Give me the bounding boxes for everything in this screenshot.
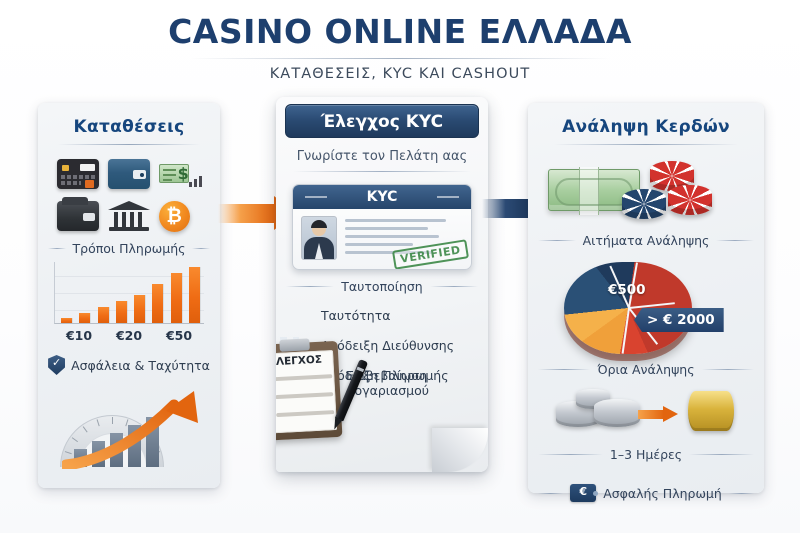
withdraw-header: Ανάληψη Κερδών	[528, 103, 764, 145]
kyc-heading: Έλεγχος KYC	[285, 104, 479, 138]
pie-callout-2000: > € 2000	[634, 308, 724, 332]
infographic-header: CASINO ONLINE ΕΛΛΑΔΑ ΚΑΤΑΘΕΣΕΙΣ, KYC ΚΑΙ…	[0, 12, 800, 82]
withdraw-heading: Ανάληψη Κερδών	[528, 117, 764, 137]
checklist-label: Ταυτότητα	[321, 308, 391, 323]
clipboard-row: ✓	[276, 389, 333, 403]
withdraw-requests-label: Αιτήματα Ανάληψης	[583, 233, 710, 248]
cash-dollar-icon: $	[159, 159, 201, 191]
kyc-subtitle: Γνωρίστε τον Πελάτη αας	[276, 149, 488, 164]
gold-coin-stack-icon	[688, 391, 734, 431]
processing-days-label-row: 1–3 Ημέρες	[538, 447, 754, 462]
bar	[134, 295, 145, 323]
withdraw-limits-label-row: Όρια Ανάληψης	[538, 362, 754, 377]
silver-coin-stack-icon	[594, 399, 640, 427]
payment-methods-label-row: Τρόποι Πληρωμής	[48, 241, 210, 256]
checklist-label: Απόδειξη Διεύθυνσης	[321, 338, 454, 353]
kyc-subtitle-divider	[293, 171, 471, 172]
withdraw-requests-label-row: Αιτήματα Ανάληψης	[538, 233, 754, 248]
identification-label-row: Ταυτοποίηση	[286, 279, 478, 294]
wallet-blue-icon	[108, 159, 150, 191]
growth-arrow-icon	[62, 389, 210, 469]
casino-chip-red-icon	[668, 185, 712, 215]
axis-label-20: €20	[116, 328, 142, 343]
panel-kyc: Έλεγχος KYC Γνωρίστε τον Πελάτη αας KYC …	[276, 97, 488, 472]
withdraw-heading-divider	[554, 144, 738, 145]
payment-methods-label: Τρόποι Πληρωμής	[73, 241, 186, 256]
title-divider	[190, 58, 610, 59]
page-title: CASINO ONLINE ΕΛΛΑΔΑ	[0, 12, 800, 52]
euro-symbol: €	[570, 485, 596, 498]
deposits-bar-chart	[54, 262, 204, 324]
withdraw-limits-pie-chart: €500 > € 2000	[538, 256, 754, 360]
bitcoin-glyph: ₿	[159, 201, 190, 232]
bar	[98, 307, 109, 323]
identification-label: Ταυτοποίηση	[341, 279, 422, 294]
speed-gauge-illustration	[48, 379, 210, 471]
shield-check-icon	[48, 355, 65, 375]
conversion-arrow-icon	[638, 407, 678, 421]
infographic-canvas: CASINO ONLINE ΕΛΛΑΔΑ ΚΑΤΑΘΕΣΕΙΣ, KYC ΚΑΙ…	[0, 0, 800, 533]
deposits-heading: Καταθέσεις	[38, 117, 220, 137]
kyc-id-card: KYC VERIFIED	[292, 184, 472, 270]
processing-days-label: 1–3 Ημέρες	[610, 447, 682, 462]
credit-card-icon	[57, 159, 99, 191]
security-row: Ασφάλεια & Ταχύτητα	[38, 355, 220, 375]
page-subtitle: ΚΑΤΑΘΕΣΕΙΣ, KYC ΚΑΙ CASHOUT	[0, 66, 800, 82]
coins-conversion-illustration	[542, 385, 750, 443]
id-shield-icon	[290, 304, 312, 326]
bar-chart-axis-labels: €10 €20 €50	[54, 328, 204, 343]
pie-label-500: €500	[608, 282, 646, 298]
bar	[171, 273, 182, 323]
security-label: Ασφάλεια & Ταχύτητα	[71, 358, 210, 373]
bar	[116, 301, 127, 323]
payment-method-icons: $ ₿	[38, 145, 220, 241]
wallet-dark-icon	[57, 201, 99, 233]
checklist-item-identity[interactable]: Ταυτότητα	[290, 304, 474, 326]
clipboard-icon: ΕΛΕΓΧΟΣ ✓ ✓ ✓	[276, 341, 342, 441]
clipboard-row: ✓	[276, 371, 333, 385]
bar	[189, 267, 200, 323]
euro-wallet-icon: €	[570, 484, 596, 502]
axis-label-10: €10	[66, 328, 92, 343]
page-curl-corner	[432, 428, 488, 472]
account-confirmation-label: Επιβεβαίωση Λογαριασμού	[346, 368, 488, 398]
casino-chip-blue-icon	[622, 189, 666, 219]
bitcoin-icon: ₿	[159, 201, 201, 233]
deposits-header: Καταθέσεις	[38, 103, 220, 145]
bar	[79, 313, 90, 323]
id-card-title-bar: KYC	[293, 185, 471, 209]
secure-payment-label-row: € Ασφαλής Πληρωμή	[538, 484, 754, 502]
clipboard-rows: ✓ ✓ ✓	[276, 371, 335, 429]
withdraw-limits-label: Όρια Ανάληψης	[597, 362, 694, 377]
bank-icon	[108, 201, 150, 233]
axis-label-50: €50	[166, 328, 192, 343]
bar-chart-bars	[61, 262, 200, 323]
money-and-chips-illustration	[542, 155, 750, 233]
panel-withdraw: Ανάληψη Κερδών Αιτήματα Ανάληψης €500 > …	[528, 103, 764, 493]
clipboard-row: ✓	[276, 407, 334, 421]
panel-deposits: Καταθέσεις $	[38, 103, 220, 488]
id-card-title: KYC	[367, 189, 398, 205]
secure-payment-label: Ασφαλής Πληρωμή	[603, 486, 722, 501]
bar	[152, 284, 163, 323]
bar	[61, 318, 72, 323]
id-photo-avatar	[301, 216, 337, 260]
